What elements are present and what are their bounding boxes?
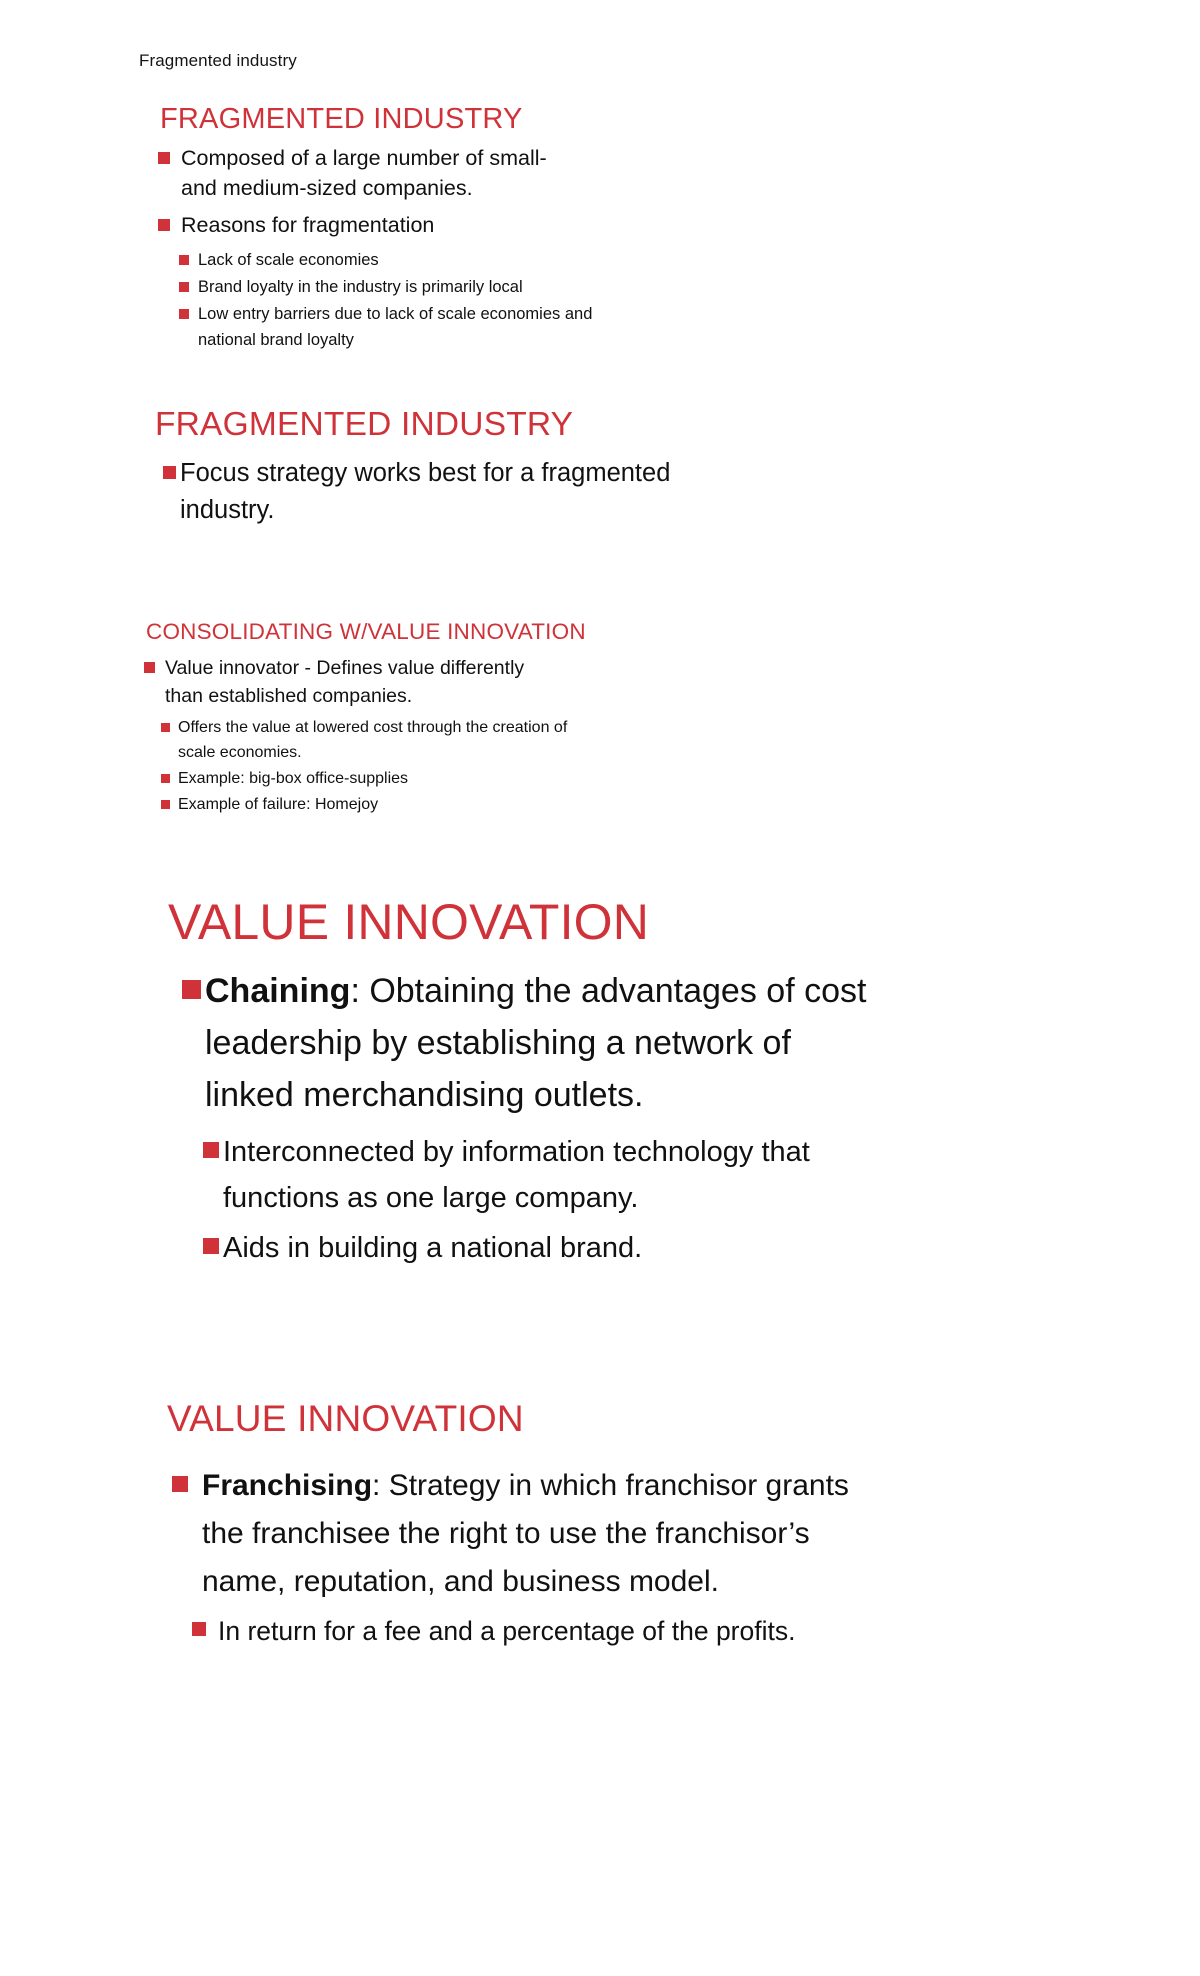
bullet-item: Franchising: Strategy in which franchiso… xyxy=(172,1462,902,1606)
bullet-text: Example: big-box office-supplies xyxy=(178,766,578,791)
section-body-fragmented-industry-1: Composed of a large number of small- and… xyxy=(158,143,628,354)
bullet-item: Brand loyalty in the industry is primari… xyxy=(179,274,628,300)
bullet-lead-term: Chaining xyxy=(205,972,350,1010)
document-page: Fragmented industry FRAGMENTED INDUSTRY … xyxy=(0,0,1200,1976)
bullet-item: Focus strategy works best for a fragment… xyxy=(163,455,703,529)
bullet-item: Interconnected by information technology… xyxy=(203,1129,902,1221)
bullet-text: Composed of a large number of small- and… xyxy=(181,143,573,203)
bullet-text: Example of failure: Homejoy xyxy=(178,792,578,817)
bullet-item: Offers the value at lowered cost through… xyxy=(161,715,634,765)
section-body-value-innovation-chaining: Chaining: Obtaining the advantages of co… xyxy=(182,965,902,1275)
bullet-item: Reasons for fragmentation xyxy=(158,210,628,240)
square-bullet-icon xyxy=(158,152,170,164)
section-heading-fragmented-industry-2: FRAGMENTED INDUSTRY xyxy=(155,406,573,444)
square-bullet-icon xyxy=(161,723,170,732)
document-label: Fragmented industry xyxy=(139,50,297,72)
bullet-item: Composed of a large number of small- and… xyxy=(158,143,628,203)
bullet-item: Example: big-box office-supplies xyxy=(161,766,634,791)
bullet-text: In return for a fee and a percentage of … xyxy=(218,1610,858,1652)
section-heading-fragmented-industry-1: FRAGMENTED INDUSTRY xyxy=(160,103,523,136)
bullet-text: Lack of scale economies xyxy=(198,247,618,273)
bullet-text: Reasons for fragmentation xyxy=(181,210,573,240)
bullet-text: Value innovator - Defines value differen… xyxy=(165,654,565,710)
section-heading-value-innovation-chaining: VALUE INNOVATION xyxy=(168,893,649,951)
section-body-consolidating-value-innovation: Value innovator - Defines value differen… xyxy=(144,654,634,818)
square-bullet-icon xyxy=(192,1622,206,1636)
square-bullet-icon xyxy=(158,219,170,231)
bullet-item: Lack of scale economies xyxy=(179,247,628,273)
section-heading-value-innovation-franchising: VALUE INNOVATION xyxy=(167,1398,524,1440)
section-body-fragmented-industry-2: Focus strategy works best for a fragment… xyxy=(163,455,703,529)
bullet-text: Franchising: Strategy in which franchiso… xyxy=(202,1462,866,1606)
square-bullet-icon xyxy=(182,980,201,999)
square-bullet-icon xyxy=(172,1476,188,1492)
bullet-text: Low entry barriers due to lack of scale … xyxy=(198,301,618,353)
bullet-text: Chaining: Obtaining the advantages of co… xyxy=(205,965,889,1121)
bullet-text: Offers the value at lowered cost through… xyxy=(178,715,578,765)
bullet-text: Focus strategy works best for a fragment… xyxy=(180,455,686,529)
square-bullet-icon xyxy=(179,255,189,265)
square-bullet-icon xyxy=(179,282,189,292)
bullet-text: Interconnected by information technology… xyxy=(223,1129,863,1221)
bullet-item: Aids in building a national brand. xyxy=(203,1225,902,1271)
square-bullet-icon xyxy=(161,774,170,783)
bullet-item: Example of failure: Homejoy xyxy=(161,792,634,817)
square-bullet-icon xyxy=(203,1238,219,1254)
bullet-text: Aids in building a national brand. xyxy=(223,1225,863,1271)
section-body-value-innovation-franchising: Franchising: Strategy in which franchiso… xyxy=(172,1462,902,1652)
bullet-item: In return for a fee and a percentage of … xyxy=(192,1610,902,1652)
bullet-lead-term: Franchising xyxy=(202,1469,372,1502)
square-bullet-icon xyxy=(144,662,155,673)
bullet-item: Low entry barriers due to lack of scale … xyxy=(179,301,628,353)
square-bullet-icon xyxy=(161,800,170,809)
bullet-item: Value innovator - Defines value differen… xyxy=(144,654,634,710)
square-bullet-icon xyxy=(179,309,189,319)
bullet-item: Chaining: Obtaining the advantages of co… xyxy=(182,965,902,1121)
square-bullet-icon xyxy=(203,1142,219,1158)
bullet-text: Brand loyalty in the industry is primari… xyxy=(198,274,618,300)
square-bullet-icon xyxy=(163,466,176,479)
section-heading-consolidating-value-innovation: CONSOLIDATING W/VALUE INNOVATION xyxy=(146,619,586,645)
